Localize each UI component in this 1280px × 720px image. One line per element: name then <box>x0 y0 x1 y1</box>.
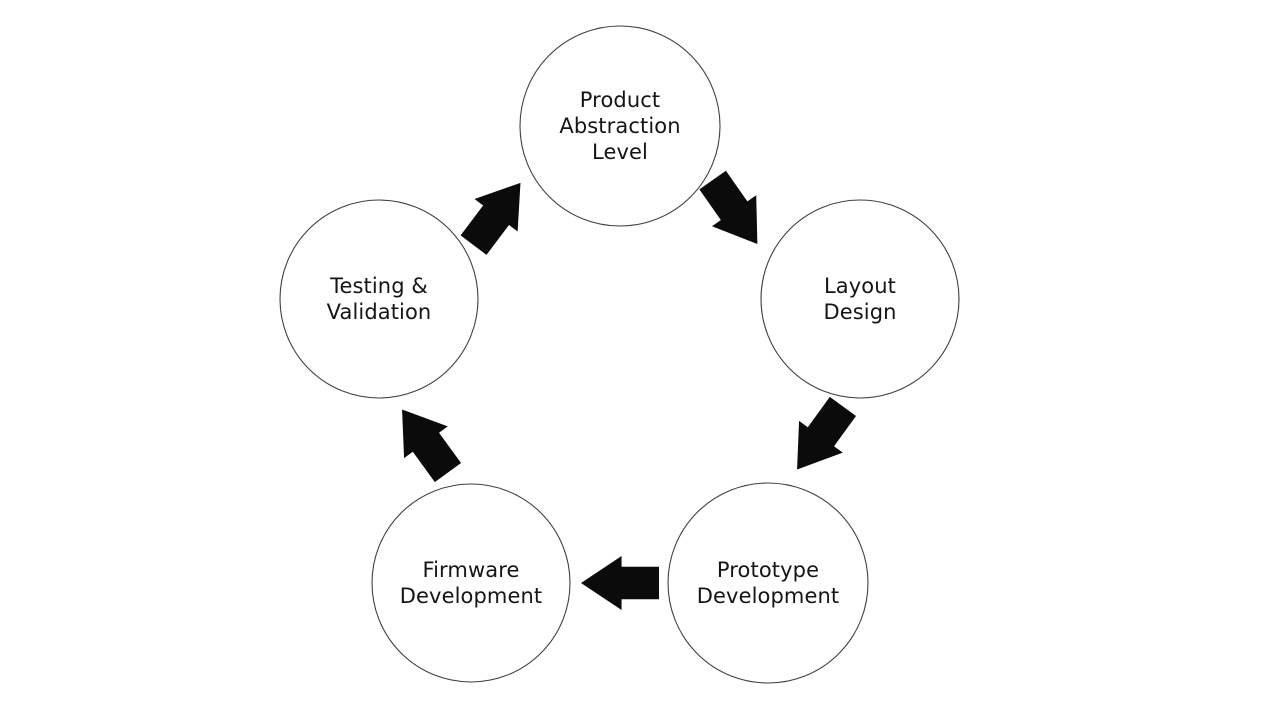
node-circle-testing-validation[interactable] <box>280 200 478 398</box>
arrow-icon <box>452 167 542 262</box>
node-circle-prototype-development[interactable] <box>668 483 868 683</box>
diagram-canvas: Product Abstraction LevelLayout DesignPr… <box>0 0 1280 720</box>
arrow-firmware-to-testing[interactable] <box>380 394 470 489</box>
arrow-prototype-to-firmware[interactable] <box>581 556 659 610</box>
arrow-icon <box>380 394 470 489</box>
arrow-testing-to-product[interactable] <box>452 167 542 262</box>
cycle-diagram-svg <box>0 0 1280 720</box>
arrow-icon <box>775 391 865 486</box>
node-circle-product-abstraction-level[interactable] <box>520 26 720 226</box>
node-circle-layout-design[interactable] <box>761 200 959 398</box>
arrow-icon <box>581 556 659 610</box>
arrow-layout-to-prototype[interactable] <box>775 391 865 486</box>
node-circle-firmware-development[interactable] <box>372 484 570 682</box>
